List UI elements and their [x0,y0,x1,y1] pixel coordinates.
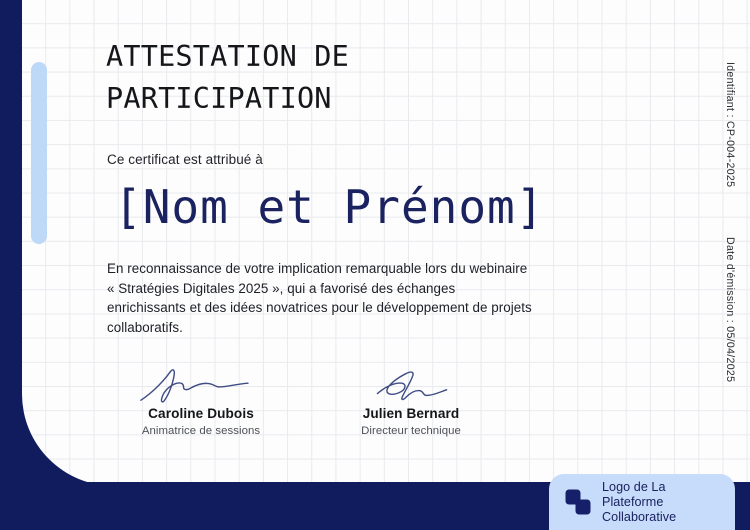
certificate-title: ATTESTATION DE PARTICIPATION [106,36,536,120]
logo-badge: Logo de La Plateforme Collaborative [549,474,735,530]
signature-name: Caroline Dubois [101,406,301,421]
certificate-content: ATTESTATION DE PARTICIPATION Ce certific… [106,0,676,486]
certificate-issue-date: Date d'émission : 05/04/2025 [724,237,736,382]
signature-block: Julien Bernard Directeur technique [311,368,511,437]
signature-role: Directeur technique [311,425,511,437]
certificate-body-text: En reconnaissance de votre implication r… [107,259,532,337]
attribution-label: Ce certificat est attribué à [107,152,263,167]
left-accent-bar [31,62,47,244]
recipient-name: [Nom et Prénom] [114,176,544,238]
logo-text: Logo de La Plateforme Collaborative [602,480,676,525]
signature-mark-icon [349,368,472,404]
certificate-document: ATTESTATION DE PARTICIPATION Ce certific… [0,0,750,530]
certificate-identifier: Identifiant : CP-004-2025 [724,62,736,187]
signature-section: Caroline Dubois Animatrice de sessions J… [106,368,536,448]
signature-name: Julien Bernard [311,406,511,421]
signature-block: Caroline Dubois Animatrice de sessions [101,368,301,437]
signature-role: Animatrice de sessions [101,425,301,437]
signature-mark-icon [139,368,262,404]
overlapping-squares-logo-icon [565,489,591,515]
